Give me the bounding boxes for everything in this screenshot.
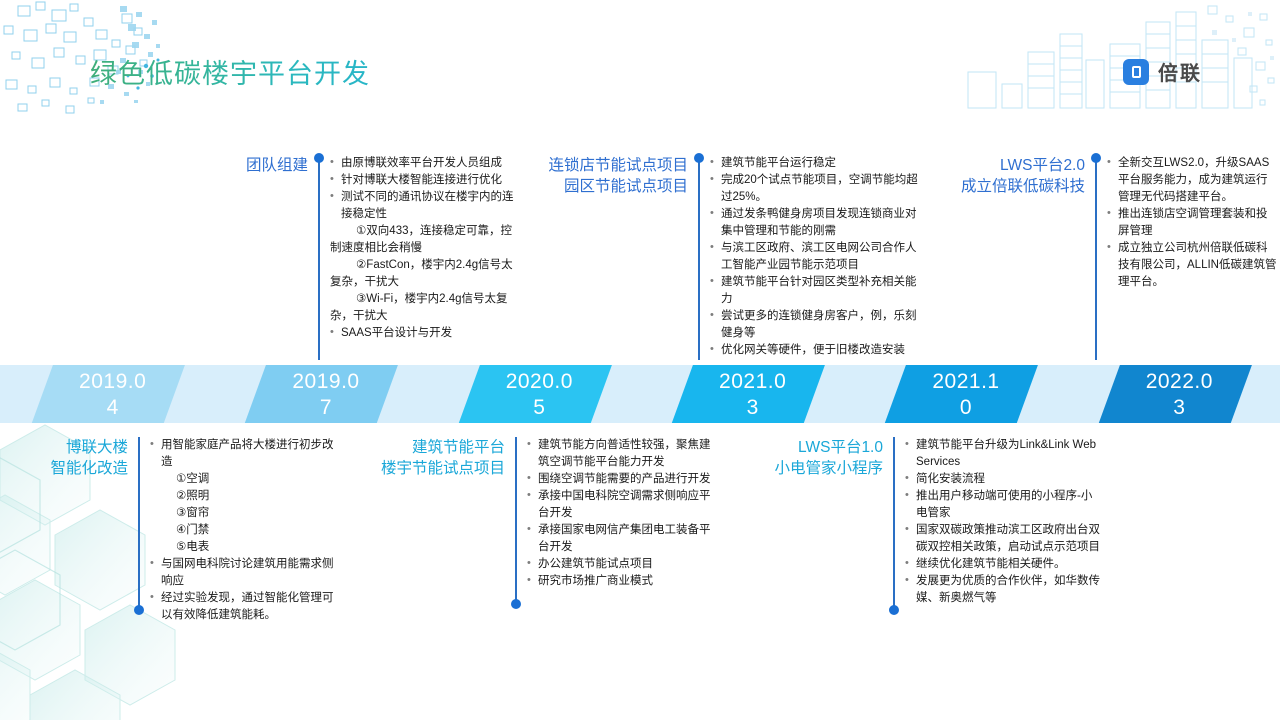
node-sub-item: ⑤电表 (150, 539, 338, 556)
band-stripe-5 (1094, 365, 1255, 423)
timeline-dot[interactable] (134, 605, 144, 615)
node-body: 用智能家庭产品将大楼进行初步改造①空调②照明③窗帘④门禁⑤电表与国网电科院讨论建… (150, 437, 338, 624)
connector-line (138, 437, 140, 613)
square-logo-icon (1123, 59, 1149, 85)
node-heading: LWS平台1.0小电管家小程序 (774, 437, 883, 479)
connector-line (318, 155, 320, 360)
node-item-list: 建筑节能平台运行稳定完成20个试点节能项目，空调节能均超过25%。通过发条鸭健身… (710, 155, 918, 359)
timeline-bottom-node-1: 建筑节能平台楼宇节能试点项目建筑节能方向普适性较强，聚焦建筑空调节能平台能力开发… (395, 437, 720, 607)
node-bullet-item: 继续优化建筑节能相关硬件。 (905, 556, 1103, 573)
node-bullet-item: 建筑节能方向普适性较强，聚焦建筑空调节能平台能力开发 (527, 437, 718, 471)
node-item-list: 由原博联效率平台开发人员组成针对博联大楼智能连接进行优化测试不同的通讯协议在楼宇… (330, 155, 516, 342)
node-sub-item: ②FastCon，楼宇内2.4g信号太复杂，干扰大 (330, 257, 516, 291)
node-heading-line-0: 博联大楼 (50, 437, 128, 458)
node-bullet-item: 完成20个试点节能项目，空调节能均超过25%。 (710, 172, 918, 206)
node-bullet-item: 经过实验发现，通过智能化管理可以有效降低建筑能耗。 (150, 590, 338, 624)
node-sub-item: ①空调 (150, 471, 338, 488)
node-body: 全新交互LWS2.0，升级SAAS平台服务能力，成为建筑运行管理无代码搭建平台。… (1107, 155, 1278, 291)
slide-root: 绿色低碳楼宇平台开发 倍联 2019.042019.072020.052021.… (0, 0, 1280, 720)
timeline-dot[interactable] (314, 153, 324, 163)
node-bullet-item: 测试不同的通讯协议在楼宇内的连接稳定性 (330, 189, 516, 223)
timeline-top-node-2: LWS平台2.0成立倍联低碳科技全新交互LWS2.0，升级SAAS平台服务能力，… (945, 155, 1280, 360)
timeline-dot[interactable] (694, 153, 704, 163)
node-bullet-item: 建筑节能平台运行稳定 (710, 155, 918, 172)
node-heading: 建筑节能平台楼宇节能试点项目 (381, 437, 505, 479)
node-item-list: 用智能家庭产品将大楼进行初步改造①空调②照明③窗帘④门禁⑤电表与国网电科院讨论建… (150, 437, 338, 624)
node-item-list: 全新交互LWS2.0，升级SAAS平台服务能力，成为建筑运行管理无代码搭建平台。… (1107, 155, 1278, 291)
brand-logo: 倍联 (1123, 57, 1202, 86)
node-heading-line-1: 园区节能试点项目 (548, 176, 688, 197)
node-heading-line-0: 连锁店节能试点项目 (548, 155, 688, 176)
brand-name: 倍联 (1158, 57, 1202, 86)
node-body: 建筑节能平台升级为Link&Link Web Services简化安装流程推出用… (905, 437, 1103, 607)
node-heading-line-0: 团队组建 (246, 155, 308, 176)
node-heading-line-1: 成立倍联低碳科技 (961, 176, 1085, 197)
timeline-band (0, 365, 1280, 423)
band-stripe-2 (454, 365, 615, 423)
node-bullet-item: 优化网关等硬件，便于旧楼改造安装 (710, 342, 918, 359)
timeline-top-node-1: 连锁店节能试点项目园区节能试点项目建筑节能平台运行稳定完成20个试点节能项目，空… (520, 155, 920, 360)
node-bullet-item: 承接中国电科院空调需求侧响应平台开发 (527, 488, 718, 522)
node-heading-line-0: LWS平台1.0 (774, 437, 883, 458)
band-stripe-1 (241, 365, 402, 423)
node-bullet-item: 尝试更多的连锁健身房客户，例，乐刻健身等 (710, 308, 918, 342)
node-heading: LWS平台2.0成立倍联低碳科技 (961, 155, 1085, 197)
node-bullet-item: 通过发条鸭健身房项目发现连锁商业对集中管理和节能的刚需 (710, 206, 918, 240)
node-bullet-item: 围绕空调节能需要的产品进行开发 (527, 471, 718, 488)
node-bullet-item: 建筑节能平台针对园区类型补充相关能力 (710, 274, 918, 308)
node-heading: 团队组建 (246, 155, 308, 176)
node-item-list: 建筑节能平台升级为Link&Link Web Services简化安装流程推出用… (905, 437, 1103, 607)
node-bullet-item: 国家双碳政策推动滨工区政府出台双碳双控相关政策，启动试点示范项目 (905, 522, 1103, 556)
band-stripe-0 (27, 365, 188, 423)
timeline-bottom-node-2: LWS平台1.0小电管家小程序建筑节能平台升级为Link&Link Web Se… (775, 437, 1105, 613)
connector-line (893, 437, 895, 613)
node-bullet-item: 全新交互LWS2.0，升级SAAS平台服务能力，成为建筑运行管理无代码搭建平台。 (1107, 155, 1278, 206)
node-item-list: 建筑节能方向普适性较强，聚焦建筑空调节能平台能力开发围绕空调节能需要的产品进行开… (527, 437, 718, 590)
connector-line (515, 437, 517, 607)
node-heading-line-0: LWS平台2.0 (961, 155, 1085, 176)
node-bullet-item: 针对博联大楼智能连接进行优化 (330, 172, 516, 189)
node-heading-line-1: 智能化改造 (50, 458, 128, 479)
node-heading-line-1: 楼宇节能试点项目 (381, 458, 505, 479)
node-bullet-item: 与滨工区政府、滨工区电网公司合作人工智能产业园节能示范项目 (710, 240, 918, 274)
node-heading-line-1: 小电管家小程序 (774, 458, 883, 479)
node-body: 建筑节能平台运行稳定完成20个试点节能项目，空调节能均超过25%。通过发条鸭健身… (710, 155, 918, 359)
node-heading: 博联大楼智能化改造 (50, 437, 128, 479)
node-bullet-item: 用智能家庭产品将大楼进行初步改造 (150, 437, 338, 471)
timeline-bottom-node-0: 博联大楼智能化改造用智能家庭产品将大楼进行初步改造①空调②照明③窗帘④门禁⑤电表… (20, 437, 340, 613)
node-sub-item: ③窗帘 (150, 505, 338, 522)
connector-line (1095, 155, 1097, 360)
node-bullet-item: 由原博联效率平台开发人员组成 (330, 155, 516, 172)
page-title: 绿色低碳楼宇平台开发 (90, 52, 370, 91)
node-bullet-item: 办公建筑节能试点项目 (527, 556, 718, 573)
band-stripe-4 (881, 365, 1042, 423)
node-bullet-item: 与国网电科院讨论建筑用能需求侧响应 (150, 556, 338, 590)
node-bullet-item: 发展更为优质的合作伙伴，如华数传媒、新奥燃气等 (905, 573, 1103, 607)
node-body: 建筑节能方向普适性较强，聚焦建筑空调节能平台能力开发围绕空调节能需要的产品进行开… (527, 437, 718, 590)
node-sub-item: ④门禁 (150, 522, 338, 539)
band-stripe-3 (667, 365, 828, 423)
node-bullet-item: 成立独立公司杭州倍联低碳科技有限公司，ALLIN低碳建筑管理平台。 (1107, 240, 1278, 291)
node-sub-item: ②照明 (150, 488, 338, 505)
node-body: 由原博联效率平台开发人员组成针对博联大楼智能连接进行优化测试不同的通讯协议在楼宇… (330, 155, 516, 342)
node-heading: 连锁店节能试点项目园区节能试点项目 (548, 155, 688, 197)
timeline-top-node-0: 团队组建由原博联效率平台开发人员组成针对博联大楼智能连接进行优化测试不同的通讯协… (200, 155, 518, 360)
timeline-dot[interactable] (889, 605, 899, 615)
node-bullet-item: 推出用户移动端可使用的小程序-小电管家 (905, 488, 1103, 522)
connector-line (698, 155, 700, 360)
city-skyline-decoration (950, 0, 1280, 120)
node-sub-item: ①双向433，连接稳定可靠，控制速度相比会稍慢 (330, 223, 516, 257)
node-bullet-item: 承接国家电网信产集团电工装备平台开发 (527, 522, 718, 556)
node-bullet-item: 简化安装流程 (905, 471, 1103, 488)
node-bullet-item: SAAS平台设计与开发 (330, 325, 516, 342)
timeline-dot[interactable] (1091, 153, 1101, 163)
node-bullet-item: 建筑节能平台升级为Link&Link Web Services (905, 437, 1103, 471)
node-bullet-item: 研究市场推广商业模式 (527, 573, 718, 590)
node-bullet-item: 推出连锁店空调管理套装和投屏管理 (1107, 206, 1278, 240)
node-heading-line-0: 建筑节能平台 (381, 437, 505, 458)
timeline-dot[interactable] (511, 599, 521, 609)
node-sub-item: ③Wi-Fi，楼宇内2.4g信号太复杂，干扰大 (330, 291, 516, 325)
